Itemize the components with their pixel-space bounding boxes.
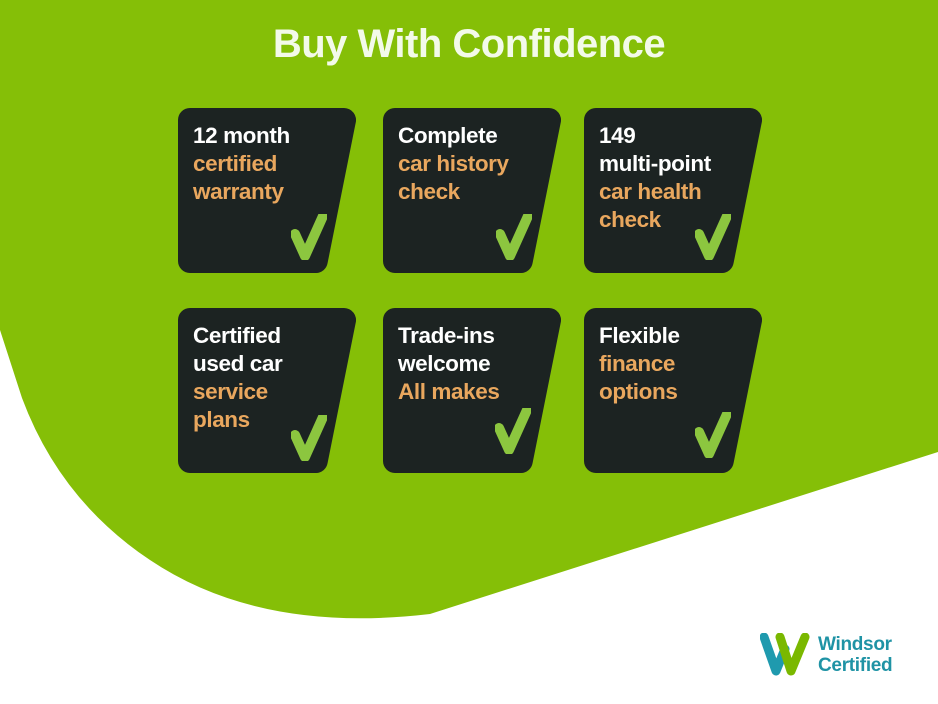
card-line-orange: car history bbox=[398, 150, 548, 178]
feature-card-12-month-certified-warranty[interactable]: 12 month certified warranty bbox=[178, 108, 356, 273]
feature-card-149-multi-point-car-health-check[interactable]: 149 multi-point car health check bbox=[584, 108, 762, 273]
card-line-orange: car health bbox=[599, 178, 749, 206]
card-line-orange: All makes bbox=[398, 378, 548, 406]
card-line-white: Flexible bbox=[599, 322, 749, 350]
logo-wordmark: Windsor Certified bbox=[818, 634, 892, 676]
feature-card-flexible-finance-options[interactable]: Flexible finance options bbox=[584, 308, 762, 473]
card-line-orange: service bbox=[193, 378, 343, 406]
feature-card-complete-car-history-check[interactable]: Complete car history check bbox=[383, 108, 561, 273]
checkmark-icon bbox=[291, 214, 327, 260]
checkmark-icon bbox=[495, 408, 531, 454]
card-line-white: welcome bbox=[398, 350, 548, 378]
windsor-certified-logo[interactable]: Windsor Certified bbox=[760, 626, 920, 684]
card-line-white: 12 month bbox=[193, 122, 343, 150]
card-line-white: Trade-ins bbox=[398, 322, 548, 350]
checkmark-icon bbox=[291, 415, 327, 461]
card-text-block: 12 month certified warranty bbox=[193, 122, 343, 206]
checkmark-icon bbox=[496, 214, 532, 260]
card-line-white: multi-point bbox=[599, 150, 749, 178]
card-text-block: Complete car history check bbox=[398, 122, 548, 206]
card-text-block: Trade-ins welcome All makes bbox=[398, 322, 548, 406]
card-line-orange: warranty bbox=[193, 178, 343, 206]
card-line-orange: certified bbox=[193, 150, 343, 178]
card-line-orange: options bbox=[599, 378, 749, 406]
feature-card-certified-used-car-service-plans[interactable]: Certified used car service plans bbox=[178, 308, 356, 473]
card-line-orange: finance bbox=[599, 350, 749, 378]
logo-line-windsor: Windsor bbox=[818, 634, 892, 655]
card-line-white: 149 bbox=[599, 122, 749, 150]
promo-banner: Buy With Confidence 12 month certified w… bbox=[0, 0, 938, 704]
windsor-w-icon bbox=[760, 633, 810, 677]
card-text-block: Flexible finance options bbox=[599, 322, 749, 406]
card-line-white: Certified bbox=[193, 322, 343, 350]
card-line-white: Complete bbox=[398, 122, 548, 150]
card-line-white: used car bbox=[193, 350, 343, 378]
checkmark-icon bbox=[695, 214, 731, 260]
logo-line-certified: Certified bbox=[818, 655, 892, 676]
page-title: Buy With Confidence bbox=[0, 20, 938, 68]
card-line-orange: check bbox=[398, 178, 548, 206]
feature-card-trade-ins-welcome-all-makes[interactable]: Trade-ins welcome All makes bbox=[383, 308, 561, 473]
checkmark-icon bbox=[695, 412, 731, 458]
